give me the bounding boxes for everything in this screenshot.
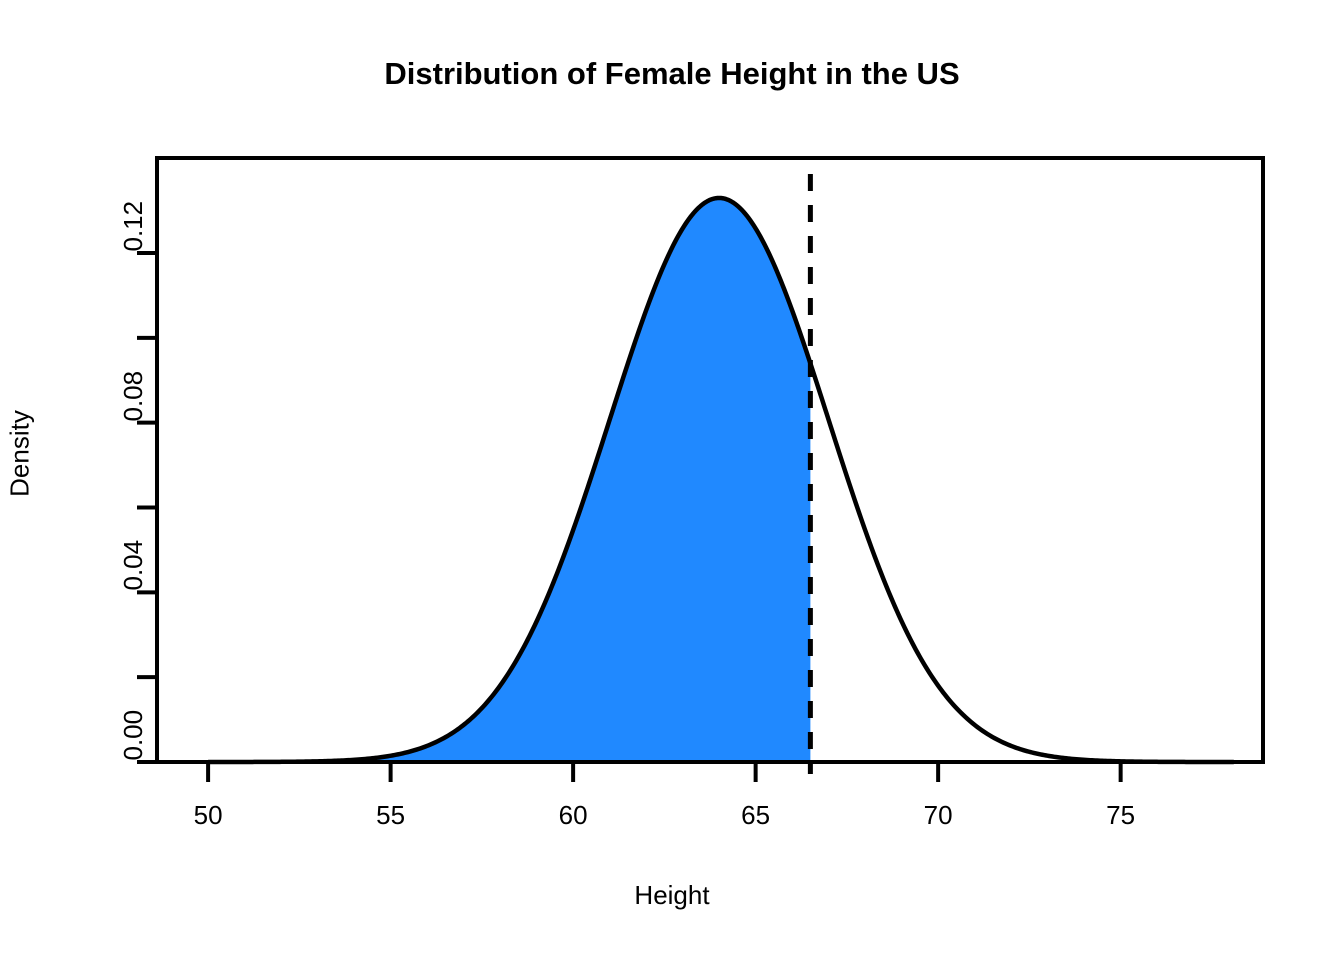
y-tick-label: 0.04 [118, 540, 149, 591]
x-tick-label: 65 [741, 800, 770, 831]
x-tick-label: 60 [559, 800, 588, 831]
x-tick-label: 75 [1106, 800, 1135, 831]
y-axis-ticks [137, 253, 157, 762]
x-tick-label: 50 [194, 800, 223, 831]
y-axis-label: Density [5, 384, 36, 524]
y-tick-label: 0.00 [118, 710, 149, 761]
x-axis-label: Height [0, 880, 1344, 911]
y-tick-label: 0.12 [118, 201, 149, 252]
x-tick-label: 55 [376, 800, 405, 831]
chart-figure: Distribution of Female Height in the US … [0, 0, 1344, 960]
y-tick-label: 0.08 [118, 371, 149, 422]
shaded-area [208, 198, 810, 762]
x-tick-label: 70 [924, 800, 953, 831]
x-axis-ticks [208, 762, 1121, 782]
